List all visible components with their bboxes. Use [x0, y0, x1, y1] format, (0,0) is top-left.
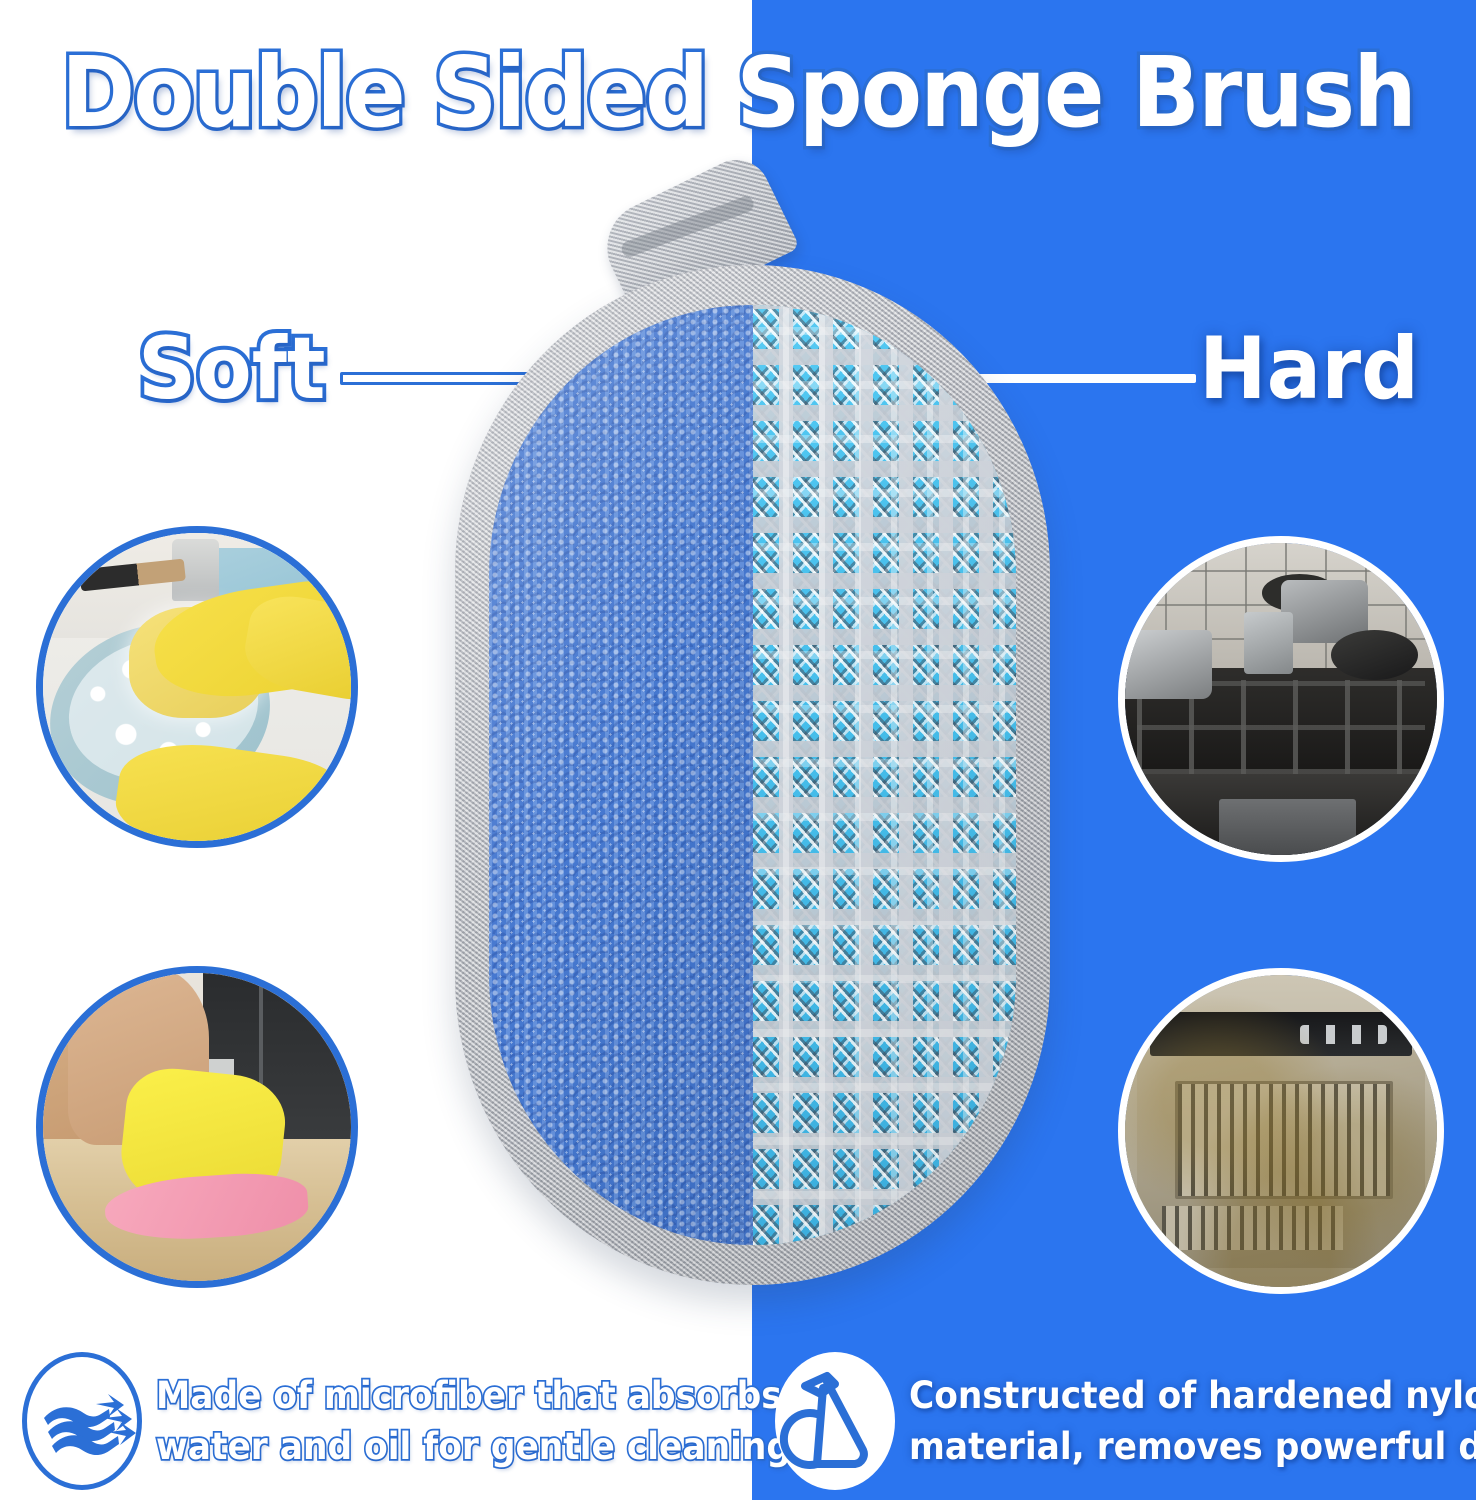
infographic-canvas: Double Sided Sponge Brush Soft Hard: [0, 0, 1476, 1500]
feature-line: water and oil for gentle cleaning: [156, 1421, 791, 1472]
sponge-hard-scrubber-side: [753, 305, 1017, 1245]
page-title: Double Sided Sponge Brush: [59, 44, 1417, 143]
callout-label-hard: Hard: [1199, 326, 1419, 412]
product-sponge: [455, 265, 1050, 1285]
feature-line: Made of microfiber that absorbs: [156, 1370, 791, 1421]
feature-text-nylon: Constructed of hardened nylon material, …: [909, 1370, 1476, 1472]
callout-label-soft: Soft: [138, 326, 326, 412]
photo-wiping-table: [36, 966, 358, 1288]
photo-dirty-gas-stove: [1118, 536, 1444, 862]
sponge-face: [489, 305, 1016, 1245]
water-waves-airflow-icon: [22, 1352, 142, 1490]
photo-greasy-range-hood: [1118, 968, 1444, 1294]
sponge-soft-microfiber-side: [489, 305, 753, 1245]
feature-text-microfiber: Made of microfiber that absorbs water an…: [156, 1370, 791, 1472]
photo-washing-dishes: [36, 526, 358, 848]
feature-line: material, removes powerful dirt: [909, 1421, 1476, 1472]
feature-line: Constructed of hardened nylon: [909, 1370, 1476, 1421]
feature-microfiber-absorbs: Made of microfiber that absorbs water an…: [22, 1352, 742, 1490]
feature-hardened-nylon: Constructed of hardened nylon material, …: [775, 1352, 1465, 1490]
hammer-tool-icon: [775, 1352, 895, 1490]
